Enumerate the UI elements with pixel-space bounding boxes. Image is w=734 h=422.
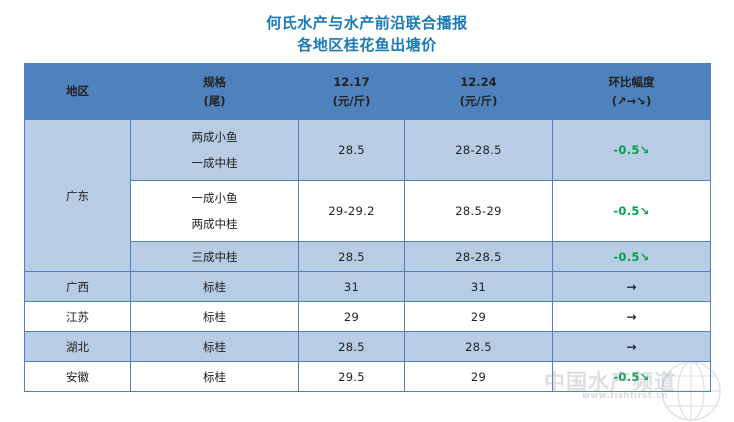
watermark-url: www.fishfirst.cn <box>582 391 668 401</box>
spec-line-1: 标桂 <box>131 304 298 330</box>
cell-price-date1: 31 <box>299 272 405 302</box>
spec-line-2: 两成中桂 <box>131 211 298 237</box>
price-date1-value: 29-29.2 <box>328 204 375 218</box>
column-header-date1-label: 12.17 <box>333 75 369 89</box>
change-flat-icon: → <box>626 310 636 324</box>
table-row: 安徽标桂29.529-0.5↘ <box>25 362 711 392</box>
region-label: 安徽 <box>66 370 89 384</box>
cell-change: → <box>553 272 711 302</box>
cell-region: 广西 <box>25 272 131 302</box>
cell-price-date1: 29-29.2 <box>299 181 405 242</box>
cell-spec: 标桂 <box>131 302 299 332</box>
cell-change: -0.5↘ <box>553 362 711 392</box>
column-header-change-label: 环比幅度 <box>609 75 655 89</box>
column-header-date2-unit: (元/斤) <box>405 92 552 111</box>
cell-region: 安徽 <box>25 362 131 392</box>
cell-region: 湖北 <box>25 332 131 362</box>
column-header-region: 地区 <box>25 64 131 120</box>
cell-price-date1: 29 <box>299 302 405 332</box>
price-date2-value: 28-28.5 <box>455 143 502 157</box>
price-date2-value: 28.5-29 <box>455 204 502 218</box>
price-date1-value: 29 <box>344 310 359 324</box>
cell-spec: 三成中桂 <box>131 242 299 272</box>
cell-spec: 标桂 <box>131 272 299 302</box>
title-line-1: 何氏水产与水产前沿联合播报 <box>0 12 734 34</box>
column-header-spec-label: 规格 <box>203 75 226 89</box>
cell-price-date2: 28.5-29 <box>405 181 553 242</box>
table-row: 广东两成小鱼一成中桂28.528-28.5-0.5↘ <box>25 120 711 181</box>
region-label: 广东 <box>66 189 89 203</box>
price-date1-value: 28.5 <box>338 340 365 354</box>
cell-price-date2: 28-28.5 <box>405 120 553 181</box>
price-table: 地区 规格 (尾) 12.17 (元/斤) 12.24 (元/斤) 环比幅度 (… <box>24 63 711 392</box>
change-flat-icon: → <box>626 340 636 354</box>
cell-price-date2: 28-28.5 <box>405 242 553 272</box>
cell-spec: 两成小鱼一成中桂 <box>131 120 299 181</box>
header-row: 地区 规格 (尾) 12.17 (元/斤) 12.24 (元/斤) 环比幅度 (… <box>25 64 711 120</box>
spec-line-1: 标桂 <box>131 334 298 360</box>
cell-change: -0.5↘ <box>553 181 711 242</box>
price-date2-value: 28.5 <box>465 340 492 354</box>
price-date1-value: 31 <box>344 280 359 294</box>
spec-line-1: 一成小鱼 <box>131 185 298 211</box>
cell-spec: 标桂 <box>131 362 299 392</box>
cell-price-date2: 31 <box>405 272 553 302</box>
title-line-2: 各地区桂花鱼出塘价 <box>0 34 734 56</box>
region-label: 江苏 <box>66 310 89 324</box>
cell-price-date2: 29 <box>405 302 553 332</box>
column-header-region-label: 地区 <box>66 84 89 98</box>
spec-line-2: 一成中桂 <box>131 150 298 176</box>
price-date1-value: 28.5 <box>338 250 365 264</box>
cell-change: -0.5↘ <box>553 242 711 272</box>
change-flat-icon: → <box>626 280 636 294</box>
cell-price-date1: 28.5 <box>299 332 405 362</box>
cell-change: -0.5↘ <box>553 120 711 181</box>
change-down-value: -0.5↘ <box>613 250 649 264</box>
table-header: 地区 规格 (尾) 12.17 (元/斤) 12.24 (元/斤) 环比幅度 (… <box>25 64 711 120</box>
table-body: 广东两成小鱼一成中桂28.528-28.5-0.5↘一成小鱼两成中桂29-29.… <box>25 120 711 392</box>
column-header-date2-label: 12.24 <box>460 75 496 89</box>
table-row: 广西标桂3131→ <box>25 272 711 302</box>
price-date2-value: 31 <box>471 280 486 294</box>
cell-price-date2: 28.5 <box>405 332 553 362</box>
cell-region: 江苏 <box>25 302 131 332</box>
cell-price-date1: 29.5 <box>299 362 405 392</box>
cell-price-date1: 28.5 <box>299 120 405 181</box>
column-header-date2: 12.24 (元/斤) <box>405 64 553 120</box>
column-header-change-unit: (↗→↘) <box>553 92 710 111</box>
spec-line-1: 标桂 <box>131 274 298 300</box>
column-header-date1: 12.17 (元/斤) <box>299 64 405 120</box>
spec-line-1: 两成小鱼 <box>131 124 298 150</box>
price-date1-value: 29.5 <box>338 370 365 384</box>
change-down-value: -0.5↘ <box>613 143 649 157</box>
cell-region: 广东 <box>25 120 131 272</box>
price-table-container: 地区 规格 (尾) 12.17 (元/斤) 12.24 (元/斤) 环比幅度 (… <box>24 63 710 392</box>
region-label: 广西 <box>66 280 89 294</box>
price-date2-value: 29 <box>471 370 486 384</box>
price-date1-value: 28.5 <box>338 143 365 157</box>
spec-line-1: 标桂 <box>131 364 298 390</box>
cell-spec: 一成小鱼两成中桂 <box>131 181 299 242</box>
cell-change: → <box>553 302 711 332</box>
price-date2-value: 29 <box>471 310 486 324</box>
column-header-date1-unit: (元/斤) <box>299 92 404 111</box>
cell-price-date2: 29 <box>405 362 553 392</box>
cell-spec: 标桂 <box>131 332 299 362</box>
change-down-value: -0.5↘ <box>613 370 649 384</box>
column-header-spec: 规格 (尾) <box>131 64 299 120</box>
region-label: 湖北 <box>66 340 89 354</box>
cell-price-date1: 28.5 <box>299 242 405 272</box>
page-title: 何氏水产与水产前沿联合播报 各地区桂花鱼出塘价 <box>0 0 734 56</box>
spec-line-1: 三成中桂 <box>131 244 298 270</box>
column-header-change: 环比幅度 (↗→↘) <box>553 64 711 120</box>
column-header-spec-unit: (尾) <box>131 92 298 111</box>
change-down-value: -0.5↘ <box>613 204 649 218</box>
cell-change: → <box>553 332 711 362</box>
table-row: 湖北标桂28.528.5→ <box>25 332 711 362</box>
table-row: 江苏标桂2929→ <box>25 302 711 332</box>
price-date2-value: 28-28.5 <box>455 250 502 264</box>
